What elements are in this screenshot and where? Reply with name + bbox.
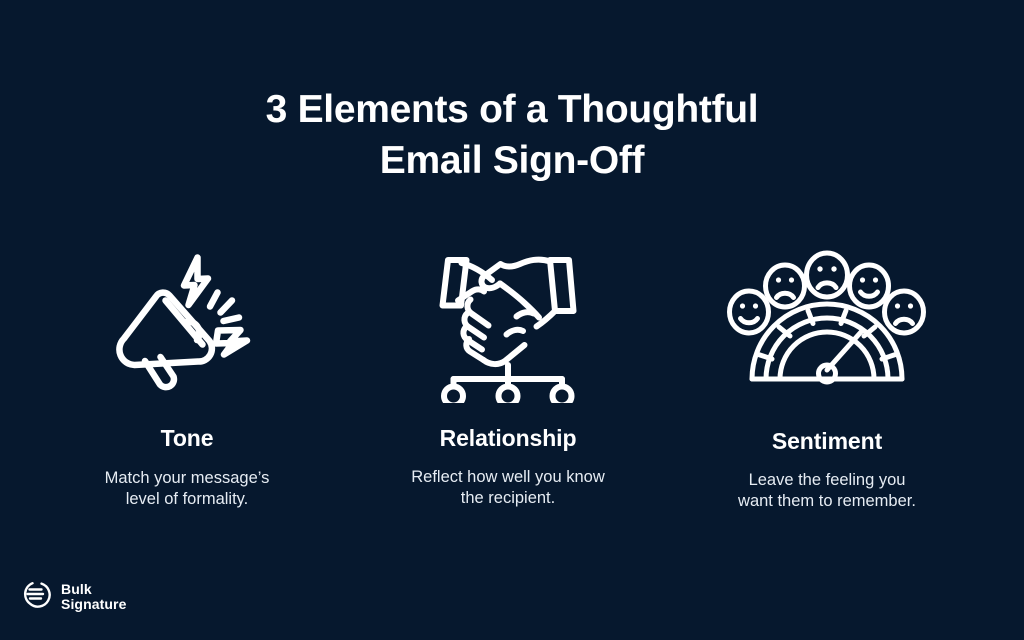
- element-description-line-1: Leave the feeling you: [677, 470, 977, 491]
- infographic-canvas: 3 Elements of a Thoughtful Email Sign-Of…: [0, 0, 1024, 640]
- face-sad-5: [885, 291, 924, 333]
- element-description: Leave the feeling you want them to remem…: [677, 470, 977, 512]
- face-sad-2: [766, 265, 805, 307]
- face-happy-4: [850, 265, 889, 307]
- element-card-relationship: Relationship Reflect how well you know t…: [358, 238, 658, 509]
- brand-logo-text: Bulk Signature: [61, 582, 126, 612]
- element-card-tone: Tone Match your message’s level of forma…: [37, 238, 337, 510]
- element-description-line-2: level of formality.: [37, 489, 337, 510]
- element-card-sentiment: Sentiment Leave the feeling you want the…: [677, 238, 977, 512]
- page-title: 3 Elements of a Thoughtful Email Sign-Of…: [0, 84, 1024, 186]
- face-happy-1: [730, 291, 769, 333]
- sentiment-gauge-icon: [677, 238, 977, 408]
- brand-logo-line-1: Bulk: [61, 582, 126, 597]
- brand-logo: Bulk Signature: [22, 579, 126, 614]
- element-heading: Relationship: [358, 425, 658, 452]
- element-description-line-1: Reflect how well you know: [358, 467, 658, 488]
- element-description-line-2: the recipient.: [358, 488, 658, 509]
- element-heading: Tone: [37, 425, 337, 452]
- handshake-hierarchy-icon: [358, 238, 658, 408]
- brand-logo-line-2: Signature: [61, 597, 126, 612]
- bulk-signature-logo-mark: [22, 579, 52, 614]
- element-description-line-1: Match your message’s: [37, 468, 337, 489]
- page-title-line-1: 3 Elements of a Thoughtful: [0, 84, 1024, 135]
- page-title-line-2: Email Sign-Off: [0, 135, 1024, 186]
- element-description: Match your message’s level of formality.: [37, 468, 337, 510]
- element-heading: Sentiment: [677, 428, 977, 455]
- face-sad-3: [807, 253, 848, 297]
- megaphone-icon: [37, 238, 337, 408]
- element-description: Reflect how well you know the recipient.: [358, 467, 658, 509]
- element-description-line-2: want them to remember.: [677, 491, 977, 512]
